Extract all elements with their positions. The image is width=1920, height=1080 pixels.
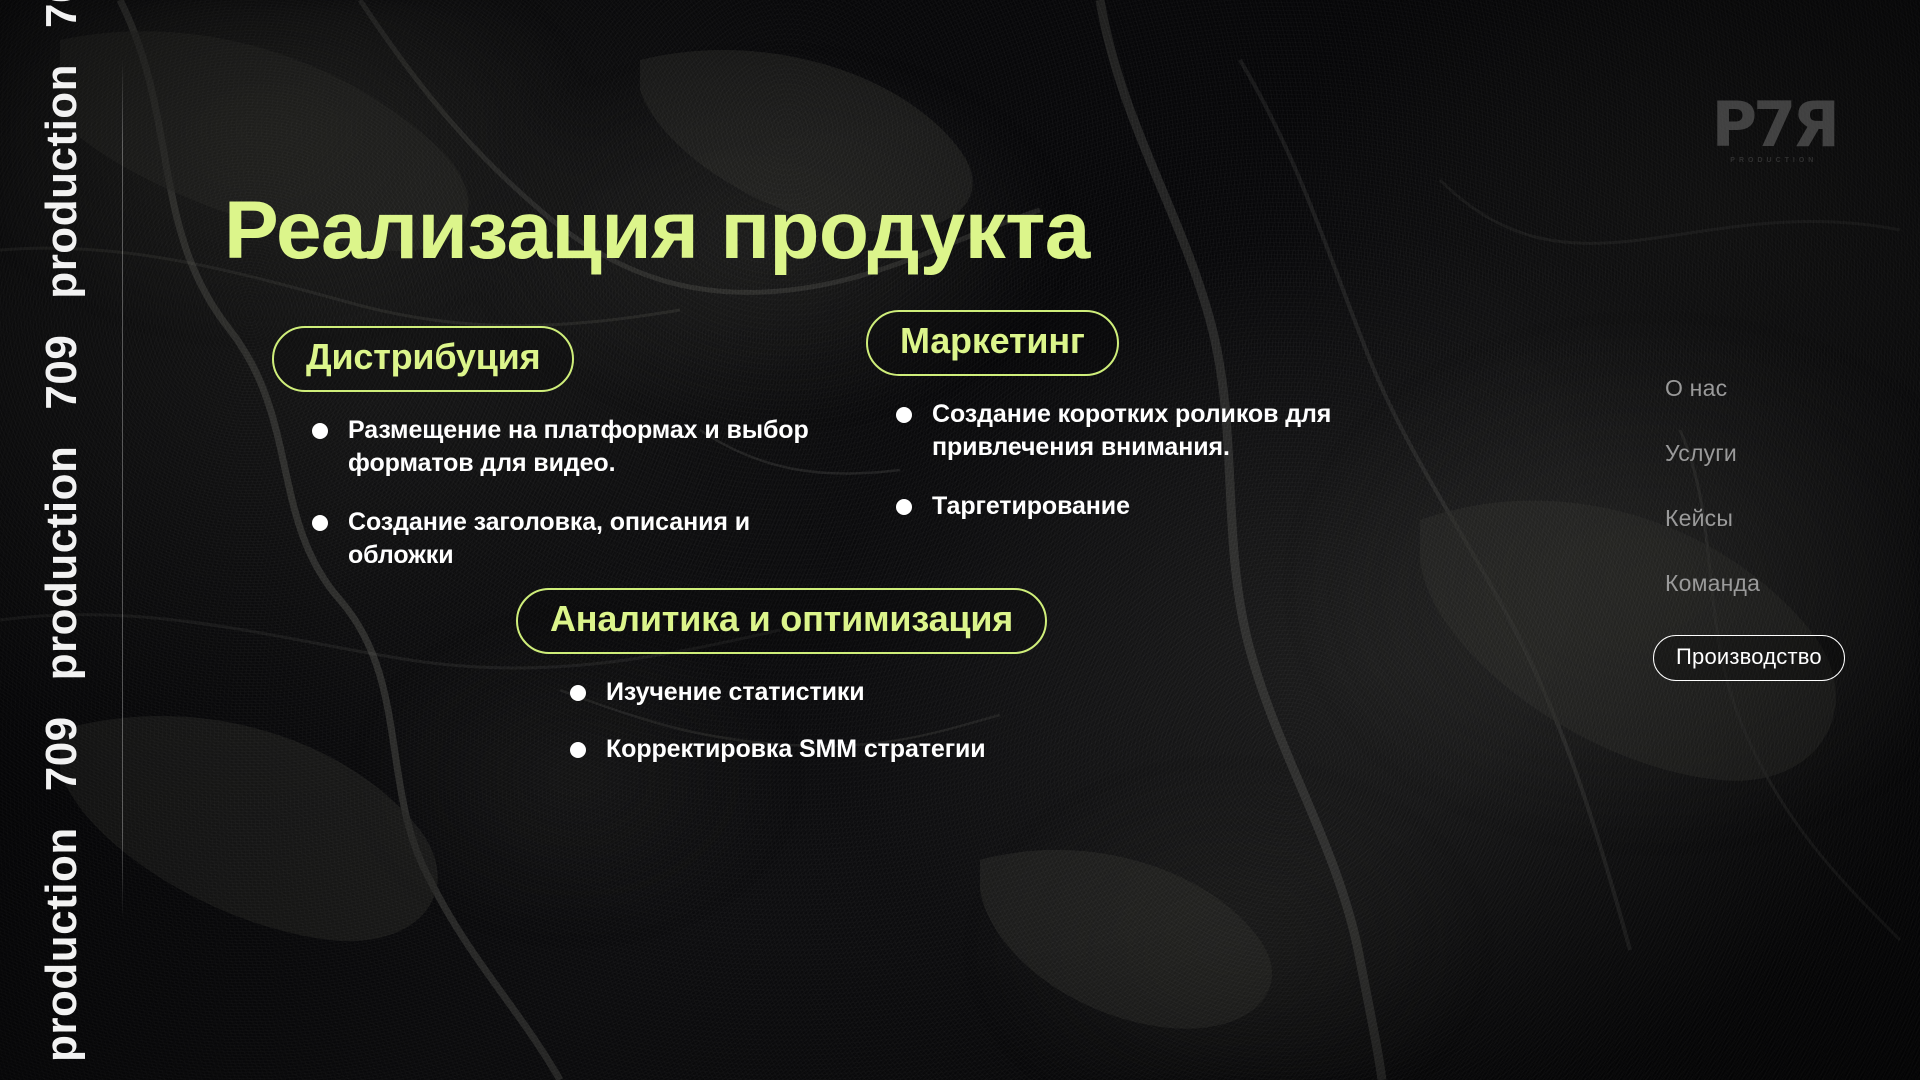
rail-word-709-3: 709 <box>37 0 86 28</box>
list-item-label: Создание заголовка, описания и обложки <box>348 508 750 569</box>
page-title: Реализация продукта <box>224 188 1090 274</box>
bullet-dot-icon <box>570 742 586 758</box>
list-item: Создание коротких роликов для привлечени… <box>890 398 1362 464</box>
brand-logo: P7Я PRODUCTION <box>1712 96 1836 164</box>
logo-subtitle-text: PRODUCTION <box>1712 157 1836 164</box>
nav-item-team[interactable]: Команда <box>1620 570 1760 597</box>
rail-word-production-3: production <box>37 64 86 299</box>
section-analytics: Аналитика и оптимизация Изучение статист… <box>516 588 1047 790</box>
section-marketing: Маркетинг Создание коротких роликов для … <box>866 310 1362 523</box>
rail-word-production-1: production <box>37 827 86 1062</box>
rail-word-production-2: production <box>37 446 86 681</box>
list-item: Таргетирование <box>890 490 1362 523</box>
rail-word-709-1: 709 <box>37 716 86 791</box>
left-vertical-rail: production709production709production709 <box>0 0 124 1080</box>
section-heading-distribution: Дистрибуция <box>272 326 574 392</box>
bullet-dot-icon <box>896 407 912 423</box>
logo-mark-text: P7Я <box>1712 96 1836 153</box>
list-item: Корректировка SMM стратегии <box>564 733 1047 766</box>
rail-repeating-brand-text: production709production709production709 <box>40 0 84 1080</box>
list-item-label: Размещение на платформах и выбор формато… <box>348 416 809 477</box>
rail-word-709-2: 709 <box>37 335 86 410</box>
section-heading-marketing: Маркетинг <box>866 310 1119 376</box>
nav-item-services[interactable]: Услуги <box>1620 440 1737 467</box>
slide-root: production709production709production709 … <box>0 0 1920 1080</box>
nav-item-about[interactable]: О нас <box>1620 375 1727 402</box>
nav-item-production-active[interactable]: Производство <box>1653 635 1845 681</box>
list-item: Размещение на платформах и выбор формато… <box>306 414 818 480</box>
bullet-dot-icon <box>570 685 586 701</box>
bullet-dot-icon <box>896 499 912 515</box>
bullet-list-distribution: Размещение на платформах и выбор формато… <box>306 414 818 572</box>
bullet-list-analytics: Изучение статистики Корректировка SMM ст… <box>564 676 1047 766</box>
rail-divider-line <box>122 58 123 920</box>
bullet-dot-icon <box>312 515 328 531</box>
bullet-list-marketing: Создание коротких роликов для привлечени… <box>890 398 1362 523</box>
nav-item-cases[interactable]: Кейсы <box>1620 505 1733 532</box>
list-item-label: Изучение статистики <box>606 678 865 706</box>
list-item: Изучение статистики <box>564 676 1047 709</box>
list-item-label: Корректировка SMM стратегии <box>606 735 986 763</box>
right-nav-menu: О нас Услуги Кейсы Команда Производство <box>1598 375 1920 681</box>
section-heading-analytics: Аналитика и оптимизация <box>516 588 1047 654</box>
list-item-label: Создание коротких роликов для привлечени… <box>932 400 1331 461</box>
list-item: Создание заголовка, описания и обложки <box>306 506 818 572</box>
section-distribution: Дистрибуция Размещение на платформах и в… <box>272 326 818 572</box>
bullet-dot-icon <box>312 423 328 439</box>
list-item-label: Таргетирование <box>932 492 1130 520</box>
